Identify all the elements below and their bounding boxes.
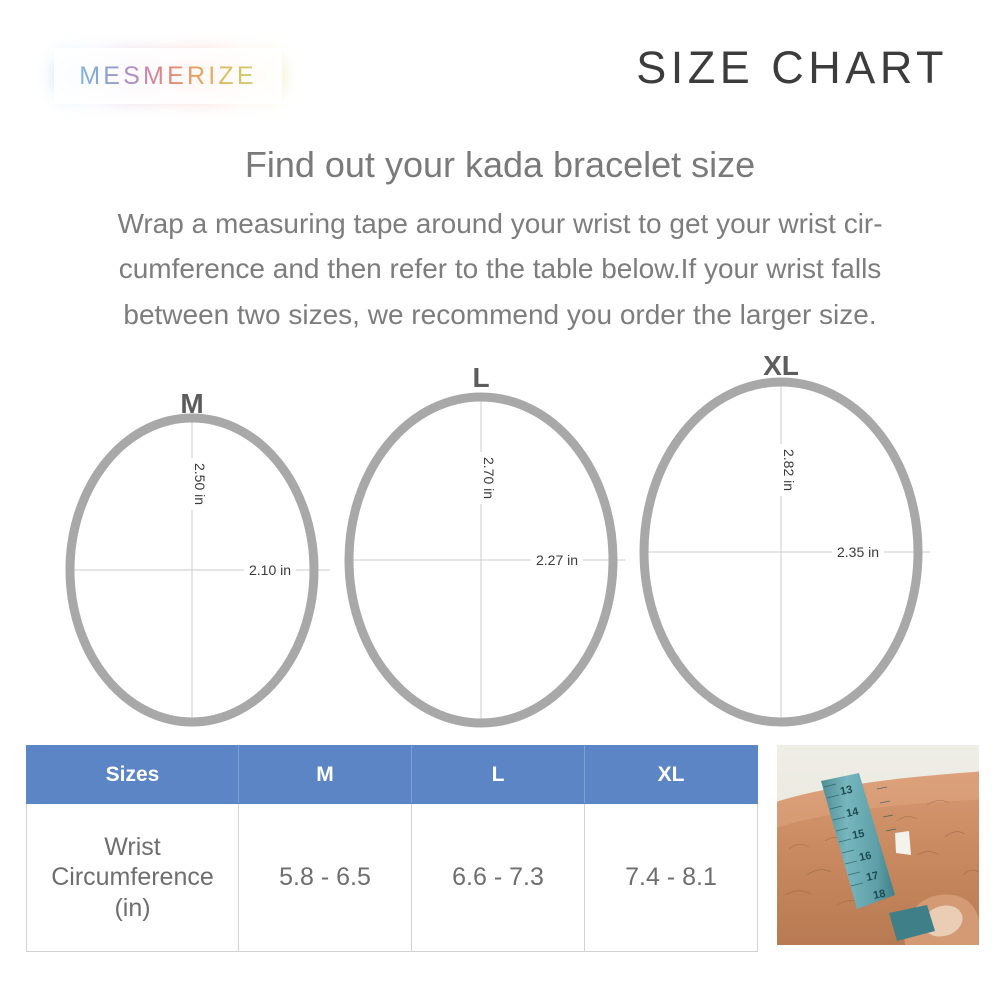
svg-text:13: 13 <box>839 784 853 798</box>
wrist-photo-illustration: 13 14 15 16 17 18 <box>777 745 979 945</box>
cell-wrist-m: 5.8 - 6.5 <box>239 804 412 952</box>
table-header-m: M <box>239 746 412 804</box>
svg-text:18: 18 <box>872 888 886 902</box>
table-header-row: Sizes M L XL <box>27 746 758 804</box>
row-label-line-3: (in) <box>28 893 237 924</box>
wrist-measuring-photo: 13 14 15 16 17 18 <box>777 745 979 945</box>
table-header-sizes: Sizes <box>27 746 239 804</box>
table-header-xl: XL <box>585 746 758 804</box>
bracelet-diagram-m <box>70 418 330 723</box>
bracelet-diagram-xl <box>644 380 930 724</box>
row-label-line-2: Circumference <box>28 862 237 893</box>
table-row: Wrist Circumference (in) 5.8 - 6.5 6.6 -… <box>27 804 758 952</box>
cell-wrist-xl: 7.4 - 8.1 <box>585 804 758 952</box>
row-label-line-1: Wrist <box>28 832 237 863</box>
svg-text:15: 15 <box>851 828 865 842</box>
cell-wrist-l: 6.6 - 7.3 <box>412 804 585 952</box>
tape-tail <box>895 831 911 855</box>
size-table: Sizes M L XL Wrist Circumference (in) 5.… <box>26 745 758 952</box>
bracelet-diagram-l <box>349 394 625 725</box>
table-header-l: L <box>412 746 585 804</box>
size-chart-page: MESMERIZE SIZE CHART Find out your kada … <box>0 0 1000 1000</box>
svg-text:16: 16 <box>858 850 872 864</box>
row-label-wrist-circumference: Wrist Circumference (in) <box>27 804 239 952</box>
svg-text:17: 17 <box>865 870 879 884</box>
